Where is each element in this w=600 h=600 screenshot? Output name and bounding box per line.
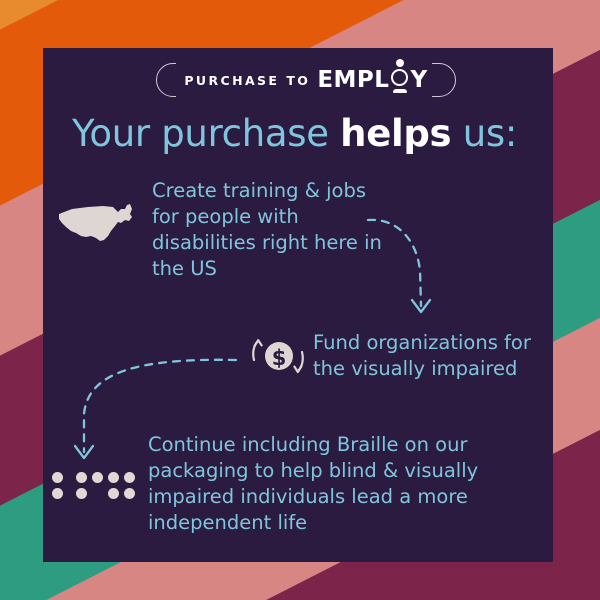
dollar-coin-icon: $	[248, 334, 310, 378]
person-body-ring-shape	[391, 69, 408, 86]
person-head-shape	[396, 59, 404, 67]
person-o-icon	[389, 65, 410, 95]
braille-dot	[108, 488, 119, 499]
braille-dot	[76, 472, 87, 483]
headline-trail: us:	[451, 112, 517, 155]
benefit-text-2: Fund organizations for the visually impa…	[313, 330, 548, 382]
braille-dot	[124, 488, 135, 499]
person-base-shape	[393, 89, 407, 94]
svg-text:$: $	[272, 346, 287, 370]
braille-dot	[52, 472, 63, 483]
braille-dot	[92, 472, 103, 483]
poster-canvas: PURCHASE TO EMPL Y Your purchase helps u…	[0, 0, 600, 600]
benefit-text-1: Create training & jobs for people with d…	[152, 178, 382, 282]
benefit-text-3: Continue including Braille on our packag…	[148, 432, 488, 536]
logo-text-purchase: PURCHASE	[184, 73, 279, 88]
logo-text-to: TO	[286, 73, 310, 88]
logo-employ-prefix: EMPL	[317, 69, 389, 92]
braille-dots-icon	[52, 472, 128, 502]
page-title: Your purchase helps us:	[72, 112, 517, 155]
us-map-icon	[55, 200, 143, 252]
logo-text-employ: EMPL Y	[317, 65, 427, 95]
braille-dot	[108, 472, 119, 483]
braille-dot	[76, 488, 87, 499]
headline-emphasis: helps	[340, 112, 451, 155]
headline-lead: Your purchase	[72, 112, 340, 155]
braille-dot	[52, 488, 63, 499]
logo-wordmark: PURCHASE TO EMPL Y	[156, 63, 456, 97]
braille-dot	[124, 472, 135, 483]
logo-employ-suffix: Y	[410, 69, 427, 92]
